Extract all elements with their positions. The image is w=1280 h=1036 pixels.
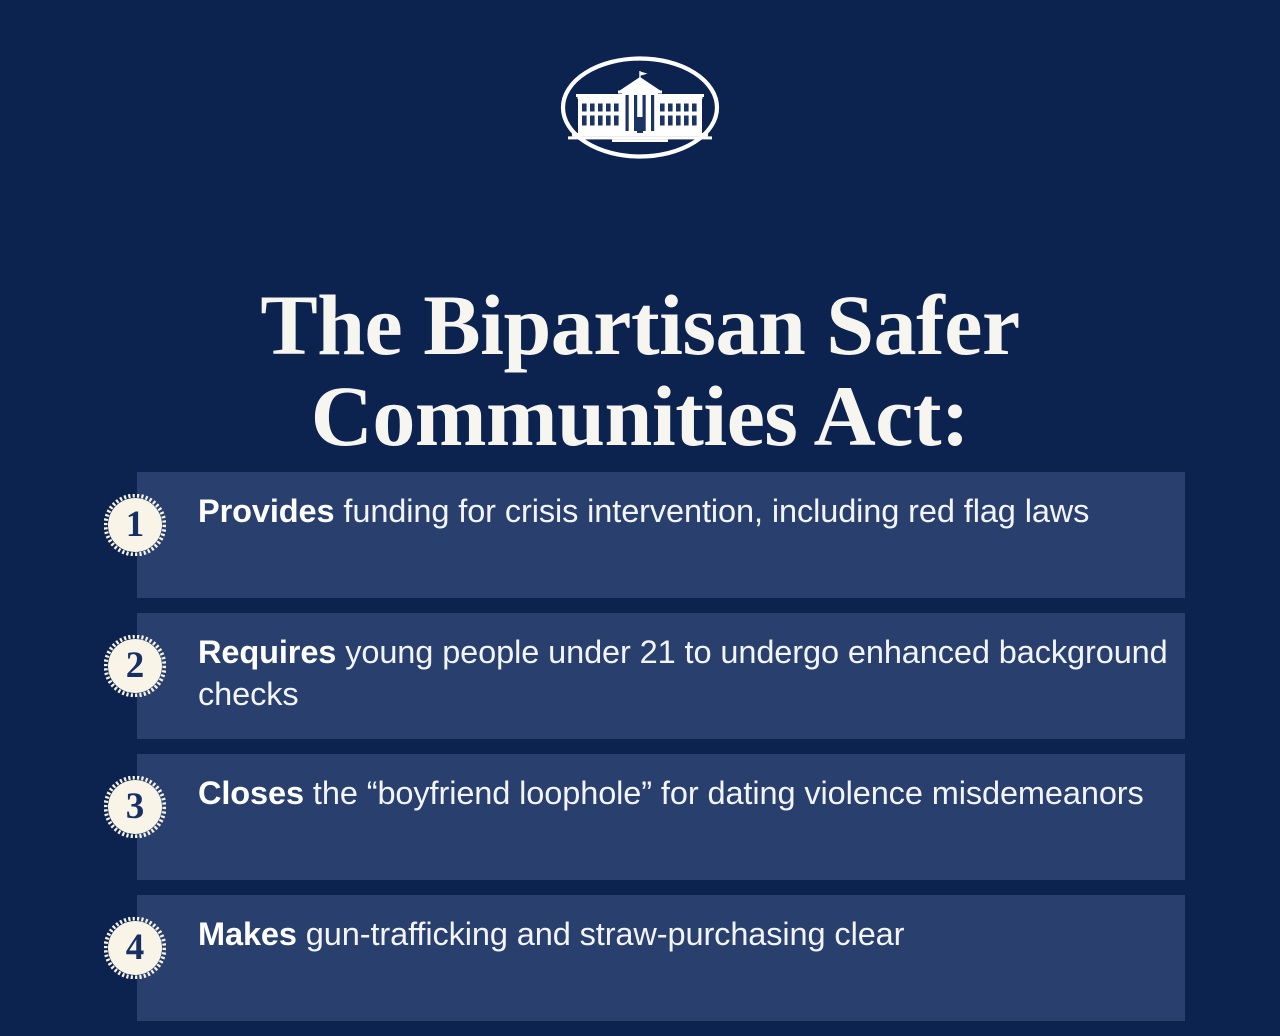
list-item-number: 1 [104, 494, 166, 556]
list-item: 3 Closes the “boyfriend loophole” for da… [0, 754, 1280, 880]
white-house-seal-icon [560, 55, 720, 160]
white-house-seal [0, 50, 1280, 165]
list-item-lead: Requires [198, 634, 336, 670]
page-title-line-2: Communities Act: [311, 368, 969, 464]
list-item: 2 Requires young people under 21 to unde… [0, 613, 1280, 739]
list-item: 4 Makes gun-trafficking and straw-purcha… [0, 895, 1280, 1021]
list-item: 1 Provides funding for crisis interventi… [0, 472, 1280, 598]
list-item-text: Closes the “boyfriend loophole” for dati… [198, 772, 1170, 814]
list-item-number-badge: 4 [104, 917, 166, 979]
list-item-number: 3 [104, 776, 166, 838]
list-item-text: Makes gun-trafficking and straw-purchasi… [198, 913, 1170, 955]
list-item-lead: Closes [198, 775, 304, 811]
list-item-rest: funding for crisis intervention, includi… [334, 493, 1089, 529]
list-item-text: Provides funding for crisis intervention… [198, 490, 1170, 532]
page-title-line-1: The Bipartisan Safer [260, 277, 1019, 373]
list-item-number-badge: 2 [104, 635, 166, 697]
list-item-rest: young people under 21 to undergo enhance… [198, 634, 1168, 712]
list-item-number-badge: 1 [104, 494, 166, 556]
list-item-lead: Provides [198, 493, 334, 529]
page-title: The Bipartisan Safer Communities Act: [0, 280, 1280, 462]
list-item-number: 4 [104, 917, 166, 979]
list-item-number: 2 [104, 635, 166, 697]
provisions-list: 1 Provides funding for crisis interventi… [0, 472, 1280, 1036]
list-item-lead: Makes [198, 916, 297, 952]
list-item-text: Requires young people under 21 to underg… [198, 631, 1170, 716]
list-item-number-badge: 3 [104, 776, 166, 838]
list-item-rest: gun-trafficking and straw-purchasing cle… [297, 916, 905, 952]
list-item-rest: the “boyfriend loophole” for dating viol… [304, 775, 1144, 811]
